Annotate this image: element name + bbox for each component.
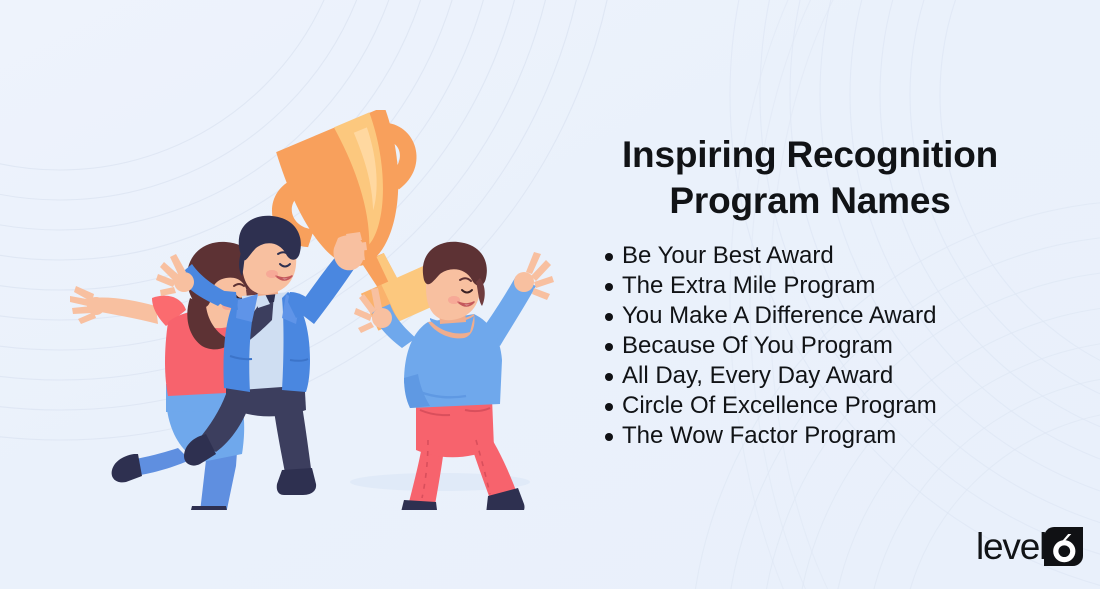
- list-item-label: The Extra Mile Program: [622, 272, 875, 299]
- list-item: Because Of You Program: [575, 331, 1045, 361]
- list-item-label: Circle Of Excellence Program: [622, 392, 937, 419]
- page-title-line-1: Inspiring Recognition: [622, 134, 998, 175]
- bullet-icon: [605, 313, 613, 321]
- text-column: Inspiring Recognition Program Names Be Y…: [575, 132, 1045, 451]
- logo-six-mark-icon: [1044, 527, 1083, 566]
- list-item: Be Your Best Award: [575, 241, 1045, 271]
- list-item-label: You Make A Difference Award: [622, 302, 936, 329]
- promo-graphic: Inspiring Recognition Program Names Be Y…: [0, 0, 1100, 589]
- bullet-icon: [605, 403, 613, 411]
- page-title-line-2: Program Names: [669, 180, 950, 221]
- page-title: Inspiring Recognition Program Names: [575, 132, 1045, 223]
- list-item-label: All Day, Every Day Award: [622, 362, 893, 389]
- list-item-label: Be Your Best Award: [622, 242, 834, 269]
- list-item: All Day, Every Day Award: [575, 361, 1045, 391]
- list-item-label: Because Of You Program: [622, 332, 893, 359]
- bullet-icon: [605, 253, 613, 261]
- list-item: The Extra Mile Program: [575, 271, 1045, 301]
- bullet-icon: [605, 433, 613, 441]
- brand-logo: level: [976, 526, 1083, 566]
- bullet-icon: [605, 283, 613, 291]
- bullet-icon: [605, 373, 613, 381]
- list-item: The Wow Factor Program: [575, 421, 1045, 451]
- program-name-list: Be Your Best Award The Extra Mile Progra…: [575, 241, 1045, 451]
- celebration-illustration: [60, 110, 570, 510]
- list-item-label: The Wow Factor Program: [622, 422, 896, 449]
- logo-wordmark: level: [976, 528, 1046, 565]
- list-item: You Make A Difference Award: [575, 301, 1045, 331]
- list-item: Circle Of Excellence Program: [575, 391, 1045, 421]
- bullet-icon: [605, 343, 613, 351]
